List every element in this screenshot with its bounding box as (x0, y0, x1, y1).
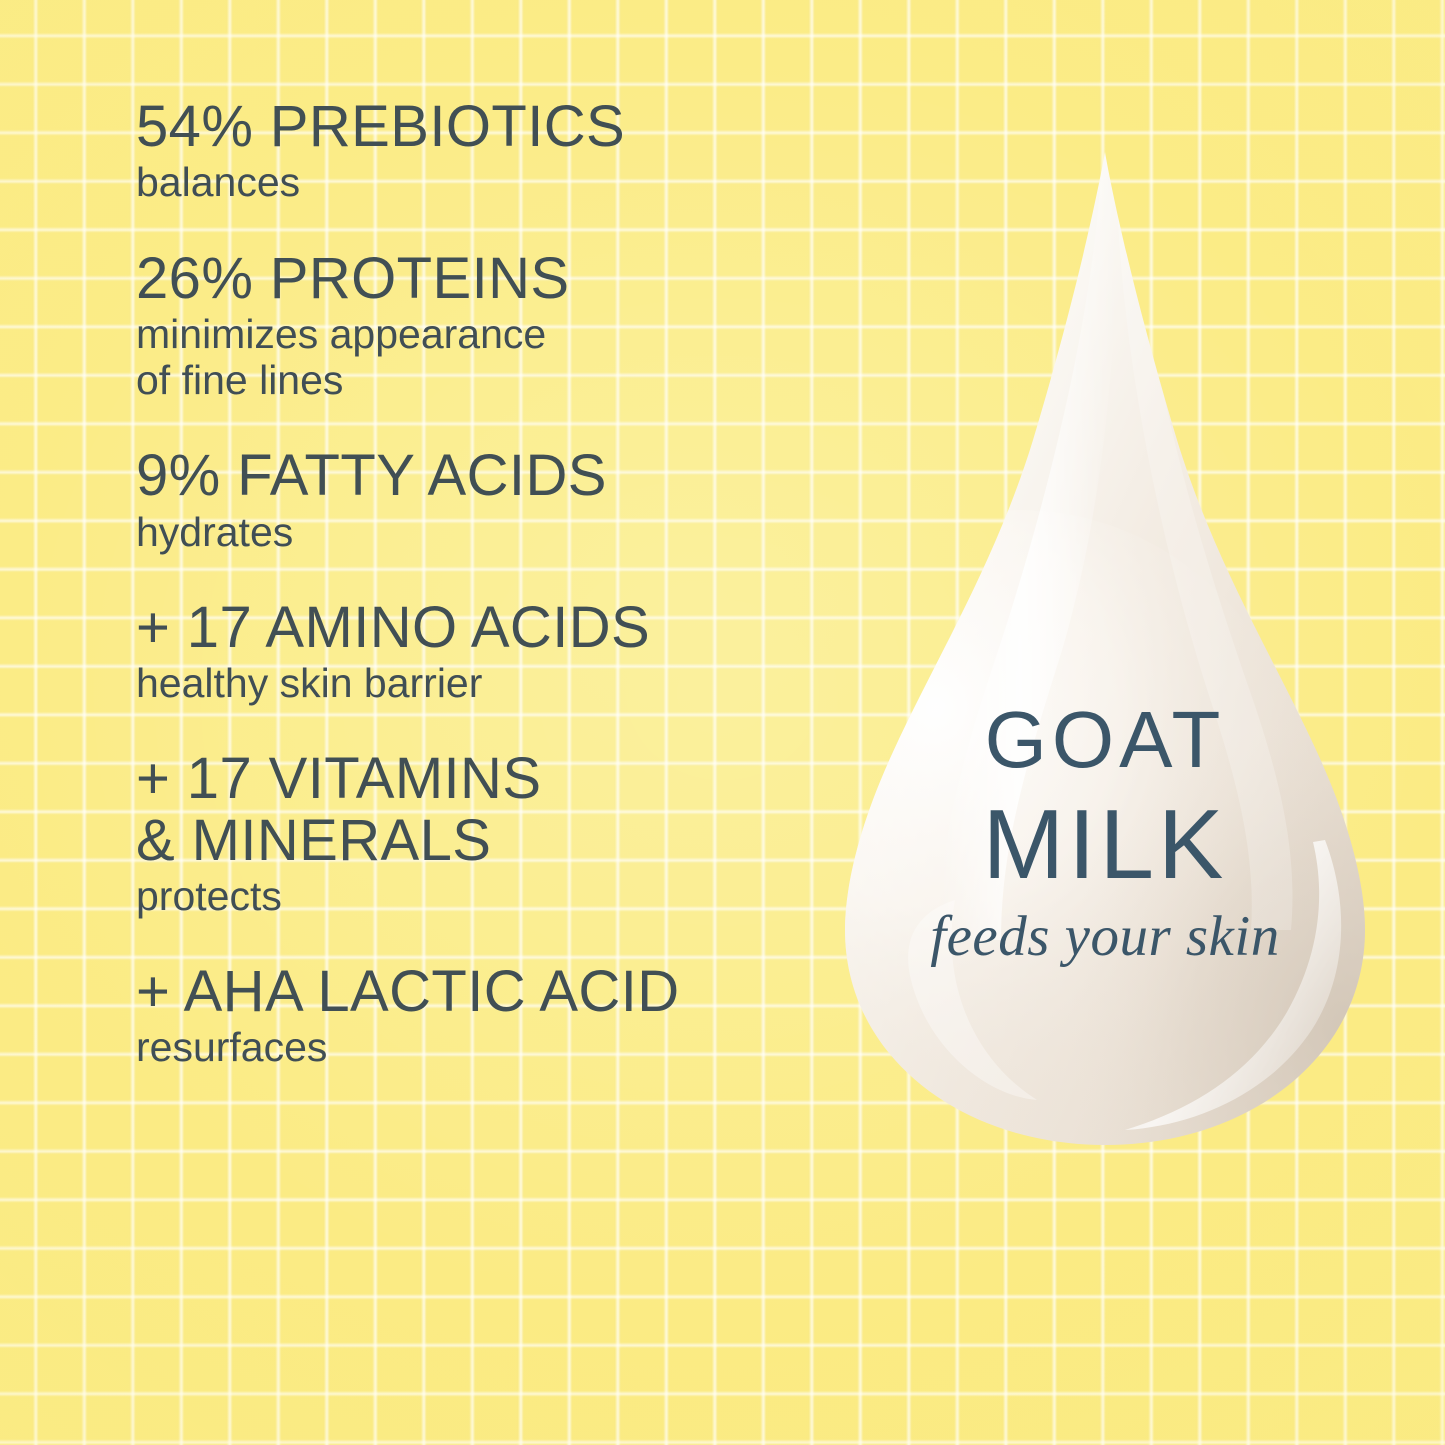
fact-item-amino-acids: + 17 AMINO ACIDS healthy skin barrier (136, 597, 816, 707)
fact-title: + AHA LACTIC ACID (136, 961, 816, 1022)
fact-item-aha-lactic-acid: + AHA LACTIC ACID resurfaces (136, 961, 816, 1071)
fact-title: 9% FATTY ACIDS (136, 445, 816, 506)
fact-benefit: resurfaces (136, 1024, 816, 1070)
fact-benefit: protects (136, 873, 816, 919)
fact-benefit: hydrates (136, 509, 816, 555)
fact-title: + 17 VITAMINS & MINERALS (136, 748, 816, 870)
milk-droplet-icon (805, 140, 1405, 1160)
ingredient-fact-list: 54% PREBIOTICS balances 26% PROTEINS min… (136, 96, 816, 1071)
fact-title: 54% PREBIOTICS (136, 96, 816, 157)
fact-item-prebiotics: 54% PREBIOTICS balances (136, 96, 816, 206)
fact-item-fatty-acids: 9% FATTY ACIDS hydrates (136, 445, 816, 555)
fact-benefit: healthy skin barrier (136, 660, 816, 706)
fact-item-vitamins-minerals: + 17 VITAMINS & MINERALS protects (136, 748, 816, 919)
fact-title: 26% PROTEINS (136, 248, 816, 309)
fact-benefit: minimizes appearance of fine lines (136, 311, 816, 404)
fact-benefit: balances (136, 159, 816, 205)
fact-title: + 17 AMINO ACIDS (136, 597, 816, 658)
infographic-canvas: 54% PREBIOTICS balances 26% PROTEINS min… (0, 0, 1445, 1445)
droplet-graphic: GOAT MILK feeds your skin (805, 140, 1405, 1160)
fact-item-proteins: 26% PROTEINS minimizes appearance of fin… (136, 248, 816, 404)
